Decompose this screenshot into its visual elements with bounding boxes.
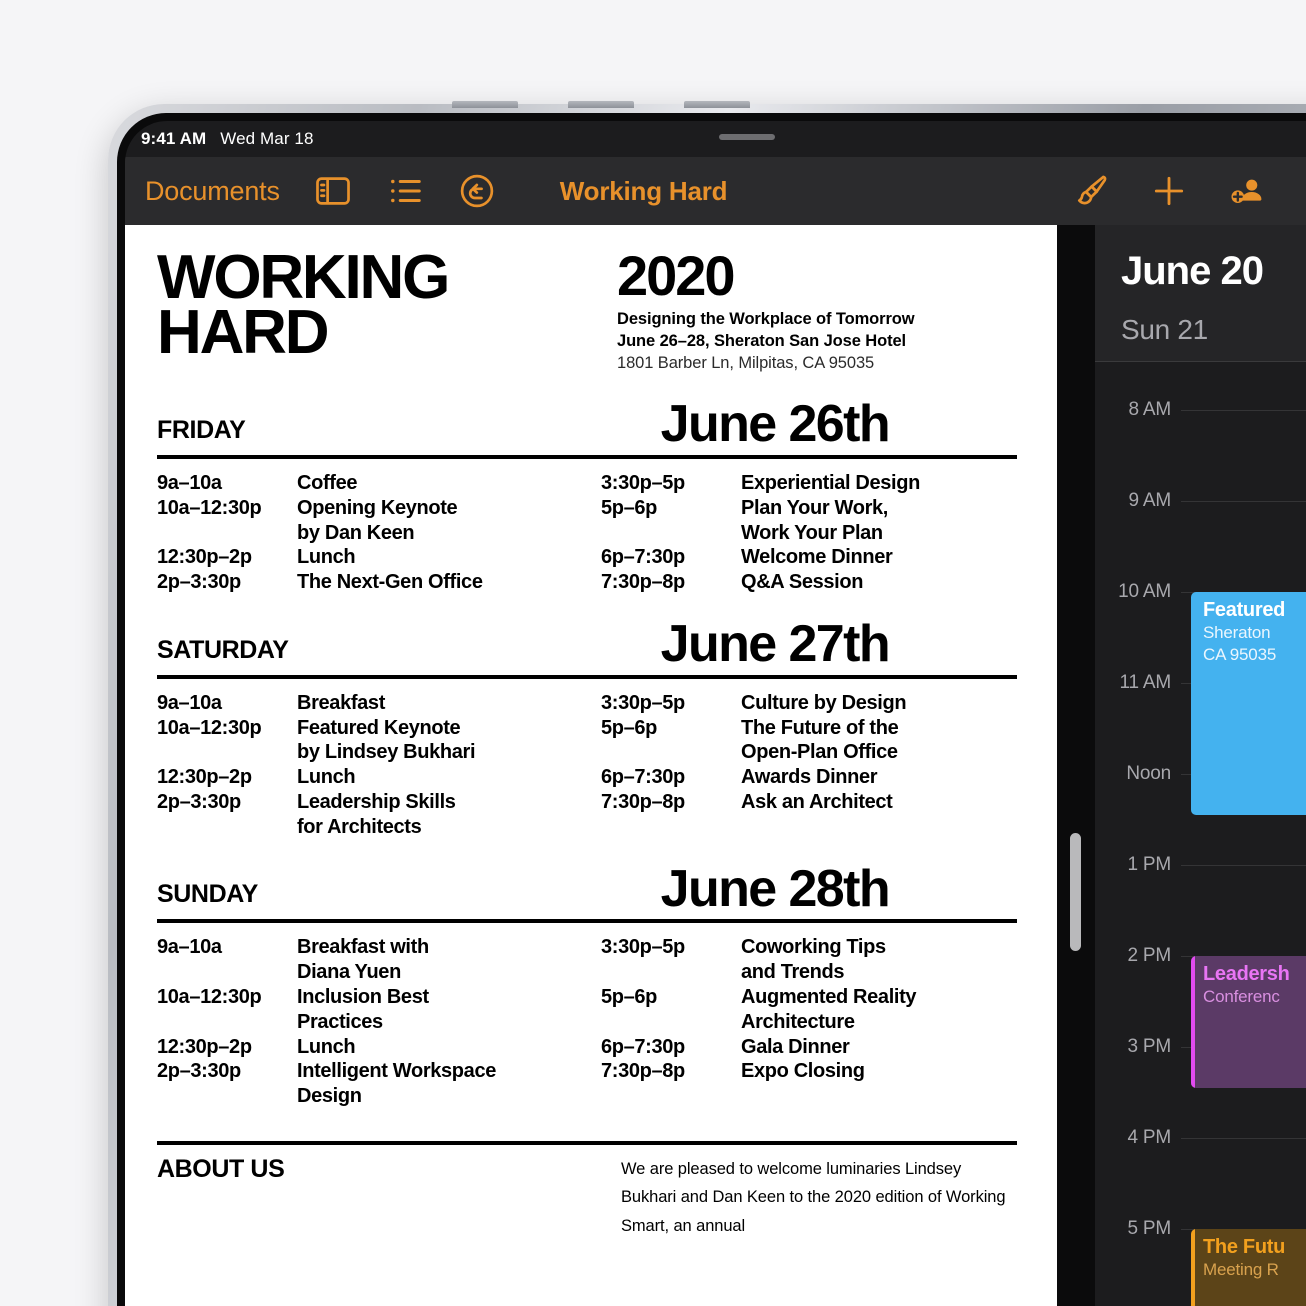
list-view-icon[interactable]: [382, 168, 428, 214]
day-schedule: 9a–10a10a–12:30p 12:30p–2p2p–3:30pCoffee…: [157, 459, 1017, 595]
document-scrollbar[interactable]: [1070, 833, 1081, 951]
schedule-time: 2p–3:30p: [157, 1059, 297, 1084]
calendar-event-subtitle-2: CA 95035: [1203, 644, 1306, 666]
schedule-times: 9a–10a10a–12:30p 12:30p–2p2p–3:30p: [157, 471, 297, 595]
schedule-event: [741, 1084, 1017, 1109]
schedule-time: 6p–7:30p: [601, 765, 741, 790]
schedule-event: Work Your Plan: [741, 521, 1017, 546]
schedule-event: Lunch: [297, 545, 587, 570]
document-title[interactable]: Working Hard: [560, 176, 728, 207]
schedule-event: and Trends: [741, 960, 1017, 985]
schedule-time: 10a–12:30p: [157, 985, 297, 1010]
schedule-column-right: 3:30p–5p5p–6p 6p–7:30p7:30p–8pExperienti…: [587, 471, 1017, 595]
hardware-button-1[interactable]: [452, 101, 518, 108]
calendar-hour-label: 11 AM: [1095, 672, 1181, 694]
schedule-time: [157, 815, 297, 840]
day-name: SUNDAY: [157, 880, 258, 913]
more-icon[interactable]: [1302, 168, 1306, 214]
multitasking-handle[interactable]: [719, 134, 775, 140]
schedule-event: Ask an Architect: [741, 790, 1017, 815]
schedule-times: 3:30p–5p5p–6p 6p–7:30p7:30p–8p: [601, 691, 741, 840]
about-section: ABOUT US We are pleased to welcome lumin…: [157, 1141, 1017, 1240]
status-bar: 9:41 AM Wed Mar 18: [125, 121, 1306, 157]
day-header: SATURDAYJune 27th: [157, 621, 1017, 675]
schedule-time: 6p–7:30p: [601, 1035, 741, 1060]
day-date: June 28th: [661, 866, 889, 914]
schedule-events: Culture by DesignThe Future of theOpen-P…: [741, 691, 1017, 840]
status-date: Wed Mar 18: [220, 129, 313, 149]
calendar-event-title: Leadersh: [1203, 963, 1306, 986]
schedule-event: Welcome Dinner: [741, 545, 1017, 570]
schedule-event: Breakfast with: [297, 935, 587, 960]
schedule-event: The Next-Gen Office: [297, 570, 587, 595]
day-schedule: 9a–10a 10a–12:30p 12:30p–2p2p–3:30p Brea…: [157, 923, 1017, 1109]
schedule-event: Gala Dinner: [741, 1035, 1017, 1060]
schedule-events: Coworking Tipsand TrendsAugmented Realit…: [741, 935, 1017, 1109]
schedule-time: 3:30p–5p: [601, 935, 741, 960]
schedule-times: 9a–10a10a–12:30p 12:30p–2p2p–3:30p: [157, 691, 297, 840]
schedule-time: 3:30p–5p: [601, 471, 741, 496]
schedule-time: 9a–10a: [157, 471, 297, 496]
schedule-days: FRIDAYJune 26th9a–10a10a–12:30p 12:30p–2…: [157, 401, 1017, 1109]
schedule-event: Lunch: [297, 765, 587, 790]
document-canvas[interactable]: WORKING HARD 2020 Designing the Workplac…: [125, 225, 1057, 1306]
schedule-time: 10a–12:30p: [157, 496, 297, 521]
schedule-events: CoffeeOpening Keynoteby Dan KeenLunchThe…: [297, 471, 587, 595]
schedule-time: [157, 740, 297, 765]
paintbrush-icon[interactable]: [1068, 168, 1114, 214]
schedule-event: Opening Keynote: [297, 496, 587, 521]
schedule-time: 5p–6p: [601, 496, 741, 521]
schedule-event: Expo Closing: [741, 1059, 1017, 1084]
poster-year: 2020: [617, 253, 915, 299]
poster-tagline: Designing the Workplace of Tomorrow: [617, 309, 915, 331]
schedule-time: 2p–3:30p: [157, 790, 297, 815]
schedule-time: 7:30p–8p: [601, 790, 741, 815]
schedule-time: [601, 960, 741, 985]
schedule-time: [157, 1084, 297, 1109]
schedule-events: Experiential DesignPlan Your Work,Work Y…: [741, 471, 1017, 595]
calendar-event-subtitle: Conferenc: [1203, 986, 1306, 1008]
add-icon[interactable]: [1146, 168, 1192, 214]
schedule-event: Experiential Design: [741, 471, 1017, 496]
calendar-hour-label: 10 AM: [1095, 581, 1181, 603]
calendar-event[interactable]: LeadershConferenc: [1191, 956, 1306, 1088]
calendar-hour-label: 3 PM: [1095, 1036, 1181, 1058]
schedule-event: Lunch: [297, 1035, 587, 1060]
undo-icon[interactable]: [454, 168, 500, 214]
schedule-event: Practices: [297, 1010, 587, 1035]
schedule-column-left: 9a–10a10a–12:30p 12:30p–2p2p–3:30p Break…: [157, 691, 587, 840]
schedule-event: Coworking Tips: [741, 935, 1017, 960]
schedule-event: for Architects: [297, 815, 587, 840]
app-toolbar: Documents: [125, 157, 1306, 225]
ipad-screen: 9:41 AM Wed Mar 18 Documents: [125, 121, 1306, 1306]
schedule-event: Q&A Session: [741, 570, 1017, 595]
calendar-month-title[interactable]: June 20: [1121, 249, 1306, 294]
schedule-time: 6p–7:30p: [601, 545, 741, 570]
schedule-event: by Lindsey Bukhari: [297, 740, 587, 765]
calendar-event-title: Featured: [1203, 599, 1306, 622]
calendar-hour-line: [1181, 865, 1306, 866]
day-block: SATURDAYJune 27th9a–10a10a–12:30p 12:30p…: [157, 621, 1017, 840]
calendar-hour-line: [1181, 501, 1306, 502]
schedule-events: Breakfast withDiana YuenInclusion BestPr…: [297, 935, 587, 1109]
calendar-header: June 20 Sun 21: [1095, 225, 1306, 361]
calendar-event[interactable]: FeaturedSheratonCA 95035: [1191, 592, 1306, 815]
screenshot-root: 9:41 AM Wed Mar 18 Documents: [0, 0, 1306, 1306]
poster-header: WORKING HARD 2020 Designing the Workplac…: [157, 251, 1017, 375]
schedule-column-right: 3:30p–5p5p–6p 6p–7:30p7:30p–8p Culture b…: [587, 691, 1017, 840]
schedule-time: 5p–6p: [601, 716, 741, 741]
schedule-time: [601, 815, 741, 840]
schedule-event: Awards Dinner: [741, 765, 1017, 790]
documents-back-button[interactable]: Documents: [145, 176, 280, 207]
hardware-button-2[interactable]: [568, 101, 634, 108]
schedule-event: Architecture: [741, 1010, 1017, 1035]
schedule-time: [157, 960, 297, 985]
sidebar-toggle-icon[interactable]: [310, 168, 356, 214]
schedule-time: 12:30p–2p: [157, 545, 297, 570]
schedule-times: 9a–10a 10a–12:30p 12:30p–2p2p–3:30p: [157, 935, 297, 1109]
schedule-event: Leadership Skills: [297, 790, 587, 815]
schedule-column-left: 9a–10a 10a–12:30p 12:30p–2p2p–3:30p Brea…: [157, 935, 587, 1109]
device-bezel: 9:41 AM Wed Mar 18 Documents: [117, 113, 1306, 1306]
calendar-event-color-bar: [1191, 956, 1195, 1088]
schedule-time: [601, 1010, 741, 1035]
day-header: FRIDAYJune 26th: [157, 401, 1017, 455]
poster-address: 1801 Barber Ln, Milpitas, CA 95035: [617, 353, 915, 375]
collaborate-icon[interactable]: [1224, 168, 1270, 214]
schedule-times: 3:30p–5p 5p–6p 6p–7:30p7:30p–8p: [601, 935, 741, 1109]
toolbar-right-group: [1068, 168, 1306, 214]
calendar-hour-line: [1181, 1138, 1306, 1139]
day-name: FRIDAY: [157, 416, 245, 449]
schedule-time: 2p–3:30p: [157, 570, 297, 595]
schedule-event: Design: [297, 1084, 587, 1109]
schedule-event: by Dan Keen: [297, 521, 587, 546]
schedule-time: 7:30p–8p: [601, 570, 741, 595]
calendar-hour-label: 2 PM: [1095, 945, 1181, 967]
schedule-time: 9a–10a: [157, 691, 297, 716]
schedule-time: 12:30p–2p: [157, 765, 297, 790]
schedule-times: 3:30p–5p5p–6p 6p–7:30p7:30p–8p: [601, 471, 741, 595]
schedule-time: 10a–12:30p: [157, 716, 297, 741]
hardware-button-3[interactable]: [684, 101, 750, 108]
schedule-event: Diana Yuen: [297, 960, 587, 985]
calendar-hour-label: 4 PM: [1095, 1127, 1181, 1149]
schedule-time: [601, 740, 741, 765]
day-header: SUNDAYJune 28th: [157, 866, 1017, 920]
schedule-time: [157, 1010, 297, 1035]
day-name: SATURDAY: [157, 636, 289, 669]
calendar-hour-label: 1 PM: [1095, 854, 1181, 876]
calendar-event[interactable]: The FutuMeeting R: [1191, 1229, 1306, 1306]
calendar-event-subtitle: Sheraton: [1203, 622, 1306, 644]
schedule-time: [157, 521, 297, 546]
about-text: We are pleased to welcome luminaries Lin…: [621, 1155, 1017, 1240]
calendar-hour-label: 8 AM: [1095, 399, 1181, 421]
calendar-grid[interactable]: 8 AM9 AM10 AM11 AMNoon1 PM2 PM3 PM4 PM5 …: [1095, 362, 1306, 1306]
calendar-day-header[interactable]: Sun 21: [1121, 314, 1306, 346]
split-view: WORKING HARD 2020 Designing the Workplac…: [125, 225, 1306, 1306]
schedule-time: 12:30p–2p: [157, 1035, 297, 1060]
day-block: FRIDAYJune 26th9a–10a10a–12:30p 12:30p–2…: [157, 401, 1017, 595]
schedule-event: Breakfast: [297, 691, 587, 716]
poster-venue: June 26–28, Sheraton San Jose Hotel: [617, 331, 915, 353]
schedule-time: [601, 521, 741, 546]
schedule-event: Culture by Design: [741, 691, 1017, 716]
pane-divider[interactable]: [1057, 225, 1095, 1306]
schedule-column-left: 9a–10a10a–12:30p 12:30p–2p2p–3:30pCoffee…: [157, 471, 587, 595]
schedule-event: Intelligent Workspace: [297, 1059, 587, 1084]
schedule-time: 9a–10a: [157, 935, 297, 960]
schedule-event: Inclusion Best: [297, 985, 587, 1010]
schedule-column-right: 3:30p–5p 5p–6p 6p–7:30p7:30p–8p Coworkin…: [587, 935, 1017, 1109]
day-date: June 26th: [661, 401, 889, 449]
schedule-time: 3:30p–5p: [601, 691, 741, 716]
day-date: June 27th: [661, 621, 889, 669]
about-title: ABOUT US: [157, 1155, 621, 1240]
schedule-time: 5p–6p: [601, 985, 741, 1010]
schedule-event: [741, 815, 1017, 840]
poster-meta: 2020 Designing the Workplace of Tomorrow…: [617, 251, 915, 375]
schedule-time: [601, 1084, 741, 1109]
status-time: 9:41 AM: [141, 129, 206, 149]
schedule-events: BreakfastFeatured Keynoteby Lindsey Bukh…: [297, 691, 587, 840]
schedule-event: Open-Plan Office: [741, 740, 1017, 765]
calendar-hour-label: 5 PM: [1095, 1218, 1181, 1240]
schedule-event: Featured Keynote: [297, 716, 587, 741]
calendar-hour-label: Noon: [1095, 763, 1181, 785]
calendar-event-title: The Futu: [1203, 1236, 1306, 1259]
calendar-event-subtitle: Meeting R: [1203, 1259, 1306, 1281]
day-schedule: 9a–10a10a–12:30p 12:30p–2p2p–3:30p Break…: [157, 679, 1017, 840]
calendar-pane: June 20 Sun 21 8 AM9 AM10 AM11 AMNoon1 P…: [1095, 225, 1306, 1306]
schedule-event: Coffee: [297, 471, 587, 496]
schedule-event: The Future of the: [741, 716, 1017, 741]
calendar-hour-label: 9 AM: [1095, 490, 1181, 512]
schedule-time: 7:30p–8p: [601, 1059, 741, 1084]
schedule-event: Augmented Reality: [741, 985, 1017, 1010]
poster-title: WORKING HARD: [157, 251, 617, 360]
calendar-hour-line: [1181, 410, 1306, 411]
calendar-event-color-bar: [1191, 1229, 1195, 1306]
ipad-device: 9:41 AM Wed Mar 18 Documents: [108, 104, 1306, 1306]
day-block: SUNDAYJune 28th9a–10a 10a–12:30p 12:30p–…: [157, 866, 1017, 1109]
schedule-event: Plan Your Work,: [741, 496, 1017, 521]
